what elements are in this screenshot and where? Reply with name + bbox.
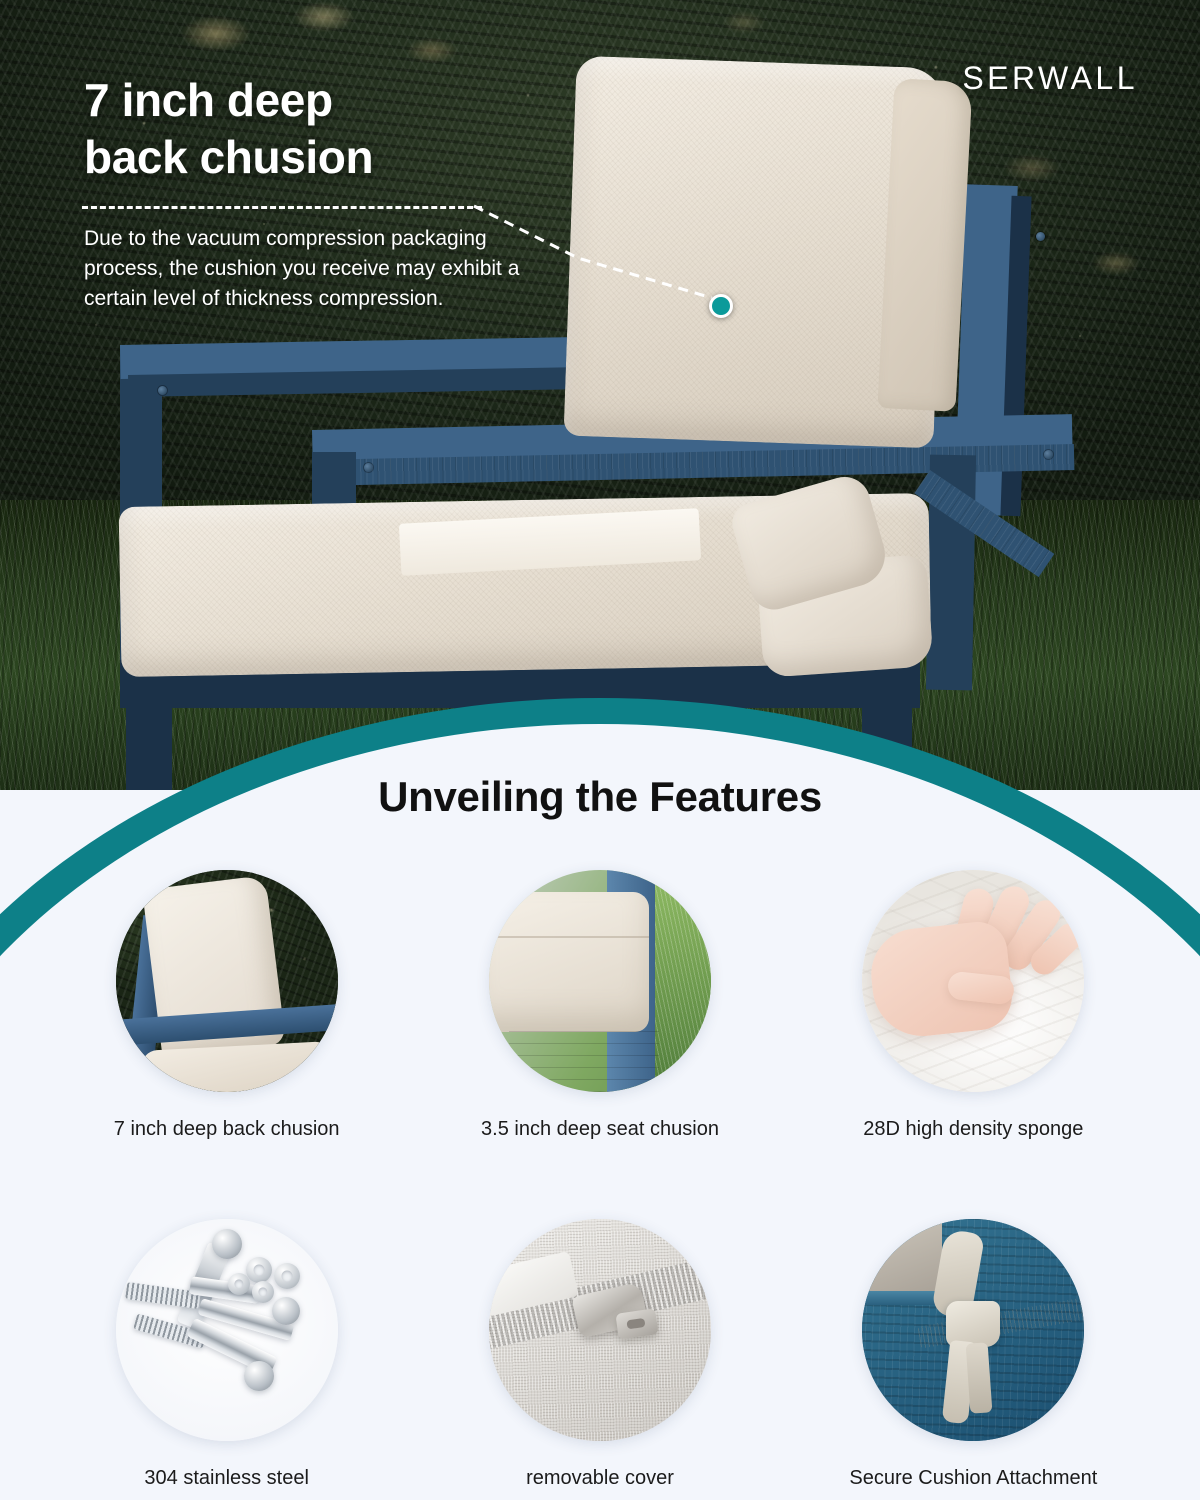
feature-thumbnail-zipper[interactable]	[489, 1219, 711, 1441]
features-section: Unveiling the Features 7 inch deep back …	[0, 755, 1200, 1500]
feature-caption: removable cover	[526, 1467, 674, 1490]
dashed-divider	[82, 206, 482, 209]
feature-thumbnail-back-cushion[interactable]	[116, 870, 338, 1092]
feature-caption: Secure Cushion Attachment	[849, 1467, 1097, 1490]
feature-caption: 28D high density sponge	[863, 1118, 1083, 1141]
callout-dot-marker	[709, 294, 733, 318]
product-feature-page: 7 inch deep back chusion Due to the vacu…	[0, 0, 1200, 1500]
feature-item[interactable]: removable cover	[413, 1219, 786, 1490]
feature-item[interactable]: 7 inch deep back chusion	[40, 870, 413, 1141]
hero-photo-section: 7 inch deep back chusion Due to the vacu…	[0, 0, 1200, 790]
feature-caption: 7 inch deep back chusion	[114, 1118, 340, 1141]
feature-thumbnail-seat-cushion[interactable]	[489, 870, 711, 1092]
feature-thumbnail-cushion-tie[interactable]	[862, 1219, 1084, 1441]
brand-logo: SERWALL	[962, 60, 1138, 97]
features-grid: 7 inch deep back chusion 3.5 inch deep s…	[40, 870, 1160, 1490]
hero-body-text: Due to the vacuum compression packaging …	[84, 224, 524, 313]
hero-title: 7 inch deep back chusion	[84, 72, 644, 186]
feature-item[interactable]: 304 stainless steel	[40, 1219, 413, 1490]
feature-thumbnail-sponge[interactable]	[862, 870, 1084, 1092]
feature-thumbnail-stainless-bolts[interactable]	[116, 1219, 338, 1441]
feature-item[interactable]: 3.5 inch deep seat chusion	[413, 870, 786, 1141]
feature-caption: 3.5 inch deep seat chusion	[481, 1118, 719, 1141]
feature-item[interactable]: Secure Cushion Attachment	[787, 1219, 1160, 1490]
feature-caption: 304 stainless steel	[144, 1467, 309, 1490]
feature-item[interactable]: 28D high density sponge	[787, 870, 1160, 1141]
back-cushion-side	[877, 78, 972, 412]
features-section-title: Unveiling the Features	[0, 773, 1200, 821]
